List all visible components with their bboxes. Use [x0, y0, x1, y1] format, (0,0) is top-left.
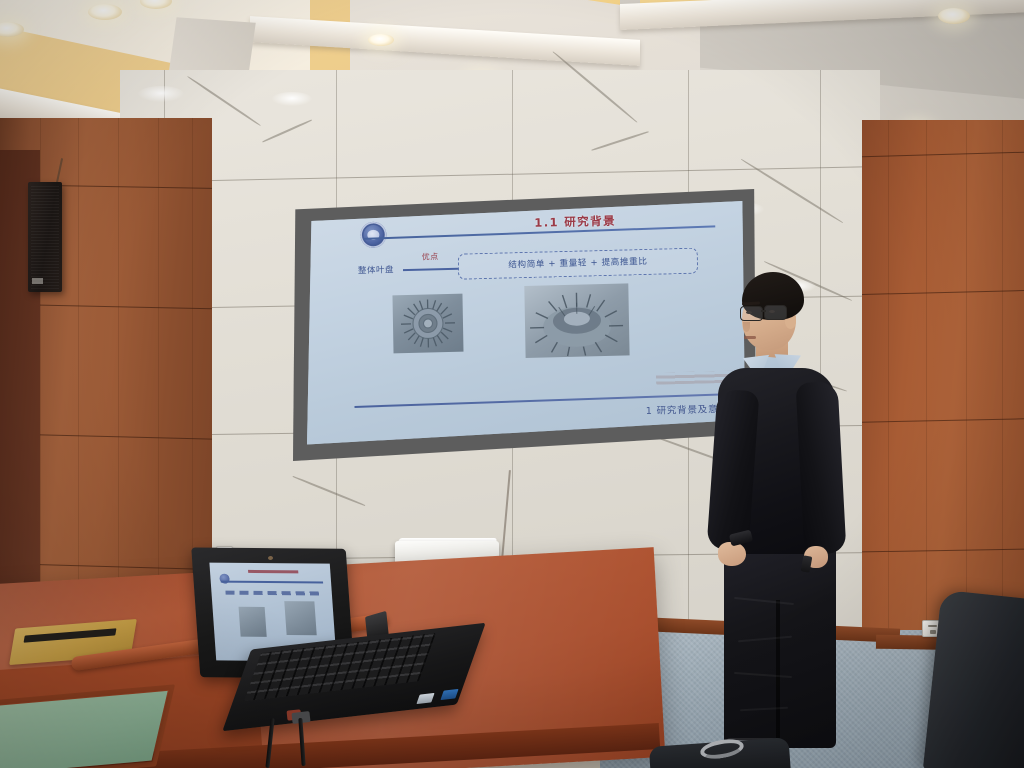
speaker-grill [31, 185, 59, 289]
ceiling-downlight-icon [938, 8, 970, 24]
presenter-nose [743, 322, 750, 332]
laptop-slide-photo-left [239, 607, 267, 637]
laptop-slide-text-row [225, 591, 320, 596]
presentation-slide: 1.1 研究背景 整体叶盘 优点 结构简单 + 重量轻 + 提高推重比 [307, 200, 745, 447]
presenter-eyeglasses-bridge [761, 310, 766, 312]
laptop-slide-photo-right [284, 601, 316, 635]
blisk-photo-front-view [392, 294, 463, 354]
conference-chair-right[interactable] [923, 590, 1024, 768]
presenter-eyeglasses-left-lens [740, 306, 763, 321]
blisk-photo-angled-view [524, 283, 629, 358]
conference-room-photo: 1.1 研究背景 整体叶盘 优点 结构简单 + 重量轻 + 提高推重比 [0, 0, 1024, 768]
presenter-person [690, 270, 870, 768]
presenter-trousers [724, 538, 836, 748]
presenter-mouth [744, 336, 756, 339]
presenter-eyeglasses-right-lens [764, 305, 787, 320]
laptop-slide-title [248, 570, 298, 573]
ceiling-downlight-icon [368, 34, 394, 46]
projection-screen[interactable]: 1.1 研究背景 整体叶盘 优点 结构简单 + 重量轻 + 提高推重比 [307, 200, 745, 447]
slide-label-subject: 整体叶盘 [358, 263, 394, 276]
slide-label-advantage: 优点 [422, 251, 439, 262]
speaker-brand-logo [32, 278, 43, 284]
ceiling-downlight-icon [88, 4, 122, 20]
laptop-slide-divider [221, 581, 323, 583]
presenter-arm-right [796, 381, 847, 555]
wall-speaker [28, 182, 62, 292]
green-desk-pad [0, 691, 168, 768]
